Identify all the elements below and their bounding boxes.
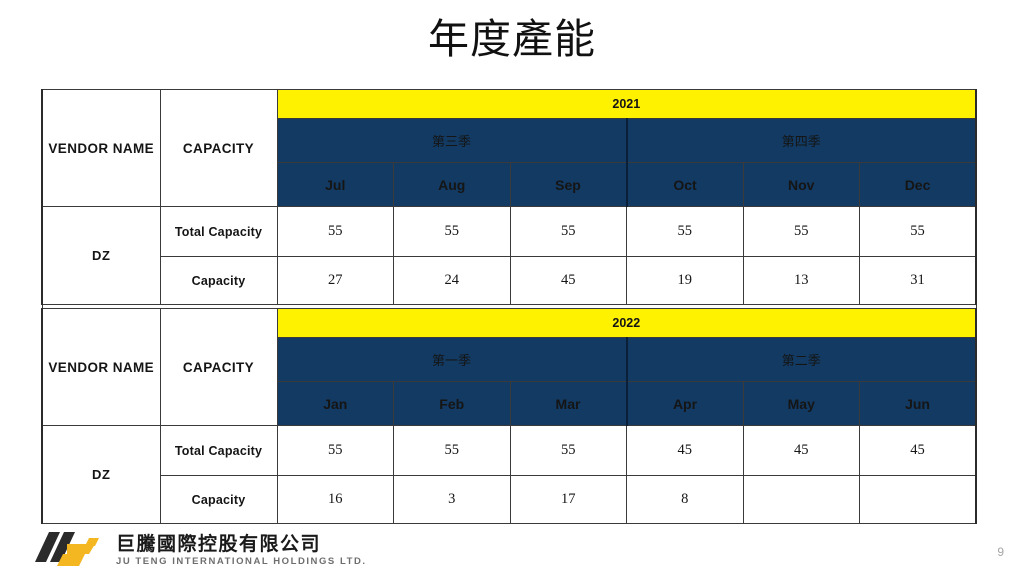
month-header-sep: Sep	[510, 163, 627, 207]
table-row-year-2021: VENDOR NAME CAPACITY 2021	[42, 90, 976, 119]
cell-2021-total-aug: 55	[394, 207, 511, 257]
cell-2022-cap-mar: 17	[510, 476, 627, 524]
cell-2021-cap-aug: 24	[394, 257, 511, 305]
month-header-oct: Oct	[627, 163, 744, 207]
page-number: 9	[997, 545, 1004, 559]
cell-2022-cap-feb: 3	[394, 476, 511, 524]
month-header-feb: Feb	[394, 382, 511, 426]
cell-2022-cap-apr: 8	[627, 476, 744, 524]
cell-2021-cap-nov: 13	[743, 257, 860, 305]
vendor-cell-2021: DZ	[42, 207, 160, 305]
month-header-jul: Jul	[277, 163, 394, 207]
header-capacity-2021: CAPACITY	[160, 90, 277, 207]
table-row-2022-capacity: Capacity 16 3 17 8	[42, 476, 976, 524]
company-name-block: 巨騰國際控股有限公司 JU TENG INTERNATIONAL HOLDING…	[116, 533, 367, 568]
cell-2021-cap-oct: 19	[627, 257, 744, 305]
cell-2021-total-sep: 55	[510, 207, 627, 257]
month-header-nov: Nov	[743, 163, 860, 207]
table-row-2021-total-capacity: DZ Total Capacity 55 55 55 55 55 55	[42, 207, 976, 257]
cell-2022-cap-jan: 16	[277, 476, 394, 524]
cell-2022-total-apr: 45	[627, 426, 744, 476]
cell-2021-total-nov: 55	[743, 207, 860, 257]
slide-footer: 巨騰國際控股有限公司 JU TENG INTERNATIONAL HOLDING…	[0, 524, 1024, 576]
quarter-label-2022-q1: 第一季	[277, 338, 627, 382]
row-label-total-capacity-2022: Total Capacity	[160, 426, 277, 476]
month-header-jan: Jan	[277, 382, 394, 426]
month-header-apr: Apr	[627, 382, 744, 426]
page-title: 年度產能	[0, 8, 1024, 70]
cell-2021-total-dec: 55	[860, 207, 977, 257]
cell-2022-total-feb: 55	[394, 426, 511, 476]
cell-2022-total-may: 45	[743, 426, 860, 476]
month-header-may: May	[743, 382, 860, 426]
quarter-label-2021-q4: 第四季	[627, 119, 977, 163]
month-header-mar: Mar	[510, 382, 627, 426]
cell-2021-total-jul: 55	[277, 207, 394, 257]
header-vendor-name-2021: VENDOR NAME	[42, 90, 160, 207]
quarter-label-2022-q2: 第二季	[627, 338, 977, 382]
table-row-year-2022: VENDOR NAME CAPACITY 2022	[42, 309, 976, 338]
vendor-cell-2022: DZ	[42, 426, 160, 524]
row-label-total-capacity-2021: Total Capacity	[160, 207, 277, 257]
cell-2021-total-oct: 55	[627, 207, 744, 257]
company-logo: 巨騰國際控股有限公司 JU TENG INTERNATIONAL HOLDING…	[33, 530, 367, 570]
month-header-aug: Aug	[394, 163, 511, 207]
month-header-jun: Jun	[860, 382, 977, 426]
cell-2022-total-jan: 55	[277, 426, 394, 476]
quarter-label-2021-q3: 第三季	[277, 119, 627, 163]
year-label-2021: 2021	[277, 90, 976, 119]
company-name-cn: 巨騰國際控股有限公司	[116, 533, 367, 555]
header-vendor-name-2022: VENDOR NAME	[42, 309, 160, 426]
cell-2022-cap-may	[743, 476, 860, 524]
cell-2022-total-jun: 45	[860, 426, 977, 476]
cell-2022-total-mar: 55	[510, 426, 627, 476]
capacity-table-area: VENDOR NAME CAPACITY 2021 第三季 第四季 Jul Au…	[41, 89, 975, 524]
cell-2021-cap-sep: 45	[510, 257, 627, 305]
annual-capacity-table: VENDOR NAME CAPACITY 2021 第三季 第四季 Jul Au…	[41, 89, 977, 524]
table-row-2022-total-capacity: DZ Total Capacity 55 55 55 45 45 45	[42, 426, 976, 476]
cell-2021-cap-jul: 27	[277, 257, 394, 305]
row-label-capacity-2022: Capacity	[160, 476, 277, 524]
year-label-2022: 2022	[277, 309, 976, 338]
company-name-en: JU TENG INTERNATIONAL HOLDINGS LTD.	[116, 555, 367, 568]
header-capacity-2022: CAPACITY	[160, 309, 277, 426]
month-header-dec: Dec	[860, 163, 977, 207]
row-label-capacity-2021: Capacity	[160, 257, 277, 305]
table-row-2021-capacity: Capacity 27 24 45 19 13 31	[42, 257, 976, 305]
cell-2022-cap-jun	[860, 476, 977, 524]
ju-teng-logo-icon	[33, 530, 107, 570]
cell-2021-cap-dec: 31	[860, 257, 977, 305]
